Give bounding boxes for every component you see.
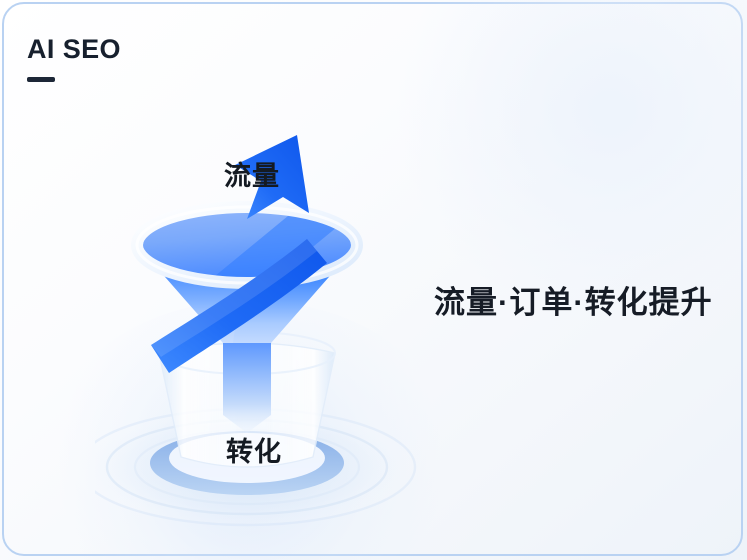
title-block: AI SEO <box>27 36 121 82</box>
funnel-stem <box>223 331 271 433</box>
title-accent-rule <box>27 77 55 82</box>
poster-canvas: AI SEO 流量·订单·转化提升 <box>0 0 747 560</box>
page-title: AI SEO <box>27 36 121 63</box>
funnel-label-conversion: 转化 <box>226 430 282 469</box>
tagline-text: 流量·订单·转化提升 <box>434 277 713 322</box>
funnel-label-traffic: 流量 <box>224 154 280 193</box>
